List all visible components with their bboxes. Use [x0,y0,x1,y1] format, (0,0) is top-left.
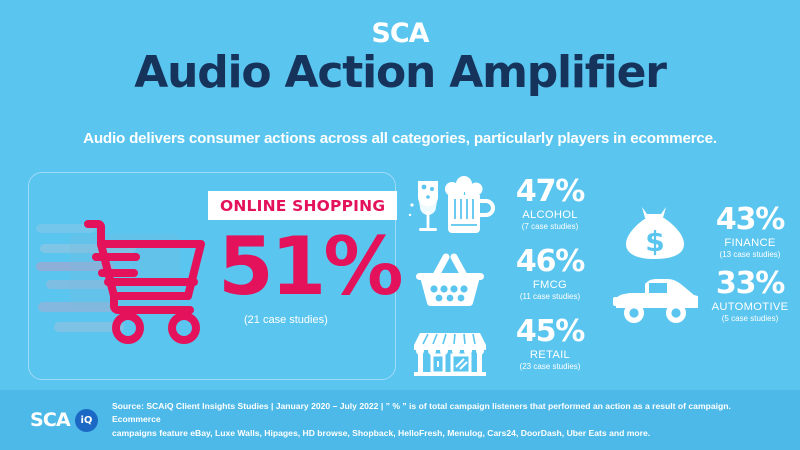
svg-text:$: $ [645,225,664,258]
stat-text: 33% AUTOMOTIVE (5 case studies) [698,267,800,324]
stat-note: (23 case studies) [496,362,604,372]
drinks-icon [404,175,496,246]
sca-brand-mark: SCA [0,18,800,49]
stat-column-middle: 47% ALCOHOL (7 case studies) [404,175,604,385]
stat-value: 47% [496,177,604,207]
stat-row: 33% AUTOMOTIVE (5 case studies) [612,267,800,327]
shopping-cart-icon [36,210,226,350]
stat-text: 46% FMCG (11 case studies) [496,245,604,302]
page-subtitle: Audio delivers consumer actions across a… [0,130,800,147]
footer-logo-text: SCA [30,409,70,431]
money-bag-icon: $ [612,203,698,268]
stat-row: $ 43% FINANCE (13 case studies) [612,203,800,263]
stat-text: 45% RETAIL (23 case studies) [496,315,604,372]
stat-value: 45% [496,317,604,347]
stat-row: 45% RETAIL (23 case studies) [404,315,604,381]
stat-note: (5 case studies) [698,314,800,324]
online-shopping-note: (21 case studies) [244,314,328,326]
sca-iq-logo: SCA iQ [30,409,98,432]
stat-label: ALCOHOL [496,208,604,222]
online-shopping-value: 51% [218,227,400,307]
iq-badge-icon: iQ [75,409,98,432]
infographic-poster: SCA Audio Action Amplifier Audio deliver… [0,0,800,450]
shopping-basket-icon [404,245,496,316]
footer-source-text: Source: SCAiQ Client Insights Studies | … [112,400,800,440]
storefront-icon [404,315,496,386]
stat-column-right: $ 43% FINANCE (13 case studies) [612,203,800,331]
stat-label: FMCG [496,278,604,292]
stat-label: AUTOMOTIVE [698,300,800,314]
stat-note: (7 case studies) [496,222,604,232]
page-title: Audio Action Amplifier [0,47,800,98]
stat-value: 43% [698,205,800,235]
footer-bar: SCA iQ Source: SCAiQ Client Insights Stu… [0,390,800,450]
stat-value: 33% [698,269,800,299]
footer-source-line-2: campaigns feature eBay, Luxe Walls, Hipa… [112,427,772,440]
stat-value: 46% [496,247,604,277]
stat-row: 46% FMCG (11 case studies) [404,245,604,311]
footer-source-line-1: Source: SCAiQ Client Insights Studies | … [112,400,772,427]
stat-label: FINANCE [698,236,800,250]
stat-row: 47% ALCOHOL (7 case studies) [404,175,604,241]
status-badge: ONLINE SHOPPING [208,191,397,220]
stat-note: (13 case studies) [698,250,800,260]
stat-text: 43% FINANCE (13 case studies) [698,203,800,260]
stat-note: (11 case studies) [496,292,604,302]
stat-label: RETAIL [496,348,604,362]
car-icon [612,267,698,332]
stat-text: 47% ALCOHOL (7 case studies) [496,175,604,232]
